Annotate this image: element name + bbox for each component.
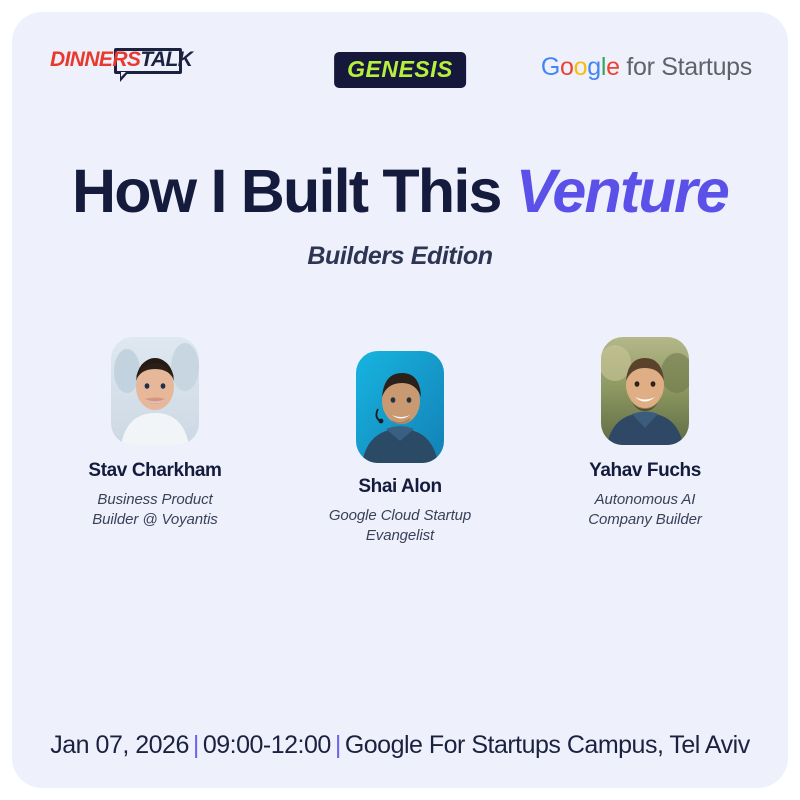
event-poster-card: DINNERSTALK GENESIS Google for Startups … <box>12 12 788 788</box>
genesis-logo[interactable]: GENESIS <box>334 52 466 88</box>
google-letter-o1: o <box>560 53 574 81</box>
google-for-startups-logo[interactable]: Google for Startups <box>541 52 752 82</box>
google-letter-g: G <box>541 53 560 81</box>
dinnerstalk-part-two: TALK <box>140 48 192 71</box>
speaker-name: Yahav Fuchs <box>530 459 760 483</box>
avatar <box>601 337 689 445</box>
dinnerstalk-wordmark: DINNERSTALK <box>50 49 192 71</box>
speaker-role: Business Product Builder @ Voyantis <box>40 490 270 530</box>
dinnerstalk-part-one: DINNERS <box>50 48 140 71</box>
event-details-footer: Jan 07, 2026|09:00-12:00|Google For Star… <box>12 728 788 762</box>
genesis-wordmark: GENESIS <box>347 58 453 81</box>
page-title: How I Built This Venture <box>12 158 788 224</box>
speaker-name: Stav Charkham <box>40 459 270 483</box>
speaker-role: Autonomous AI Company Builder <box>530 490 760 530</box>
speaker-card: Shai Alon Google Cloud Startup Evangelis… <box>285 337 515 546</box>
event-time: 09:00-12:00 <box>203 731 331 759</box>
speech-bubble-tail-inner-icon <box>121 72 126 77</box>
footer-separator: | <box>331 731 345 759</box>
google-letter-o2: o <box>574 53 588 81</box>
logo-bar: DINNERSTALK GENESIS Google for Startups <box>12 38 788 94</box>
google-letter-g2: g <box>587 53 601 81</box>
speaker-list: Stav Charkham Business Product Builder @… <box>40 337 760 546</box>
avatar <box>111 337 199 445</box>
speaker-card: Yahav Fuchs Autonomous AI Company Builde… <box>530 337 760 530</box>
google-for-startups-tail: for Startups <box>620 53 752 81</box>
avatar <box>356 351 444 463</box>
title-main-text: How I Built This <box>72 157 516 225</box>
speaker-role: Google Cloud Startup Evangelist <box>285 506 515 546</box>
title-accent-text: Venture <box>516 157 728 225</box>
google-letter-e: e <box>606 53 620 81</box>
event-location: Google For Startups Campus, Tel Aviv <box>345 731 750 759</box>
event-date: Jan 07, 2026 <box>50 731 189 759</box>
speaker-name: Shai Alon <box>285 475 515 499</box>
footer-separator: | <box>189 731 203 759</box>
page-subtitle: Builders Edition <box>12 240 788 272</box>
dinnerstalk-logo[interactable]: DINNERSTALK <box>50 46 185 86</box>
speaker-card: Stav Charkham Business Product Builder @… <box>40 337 270 530</box>
